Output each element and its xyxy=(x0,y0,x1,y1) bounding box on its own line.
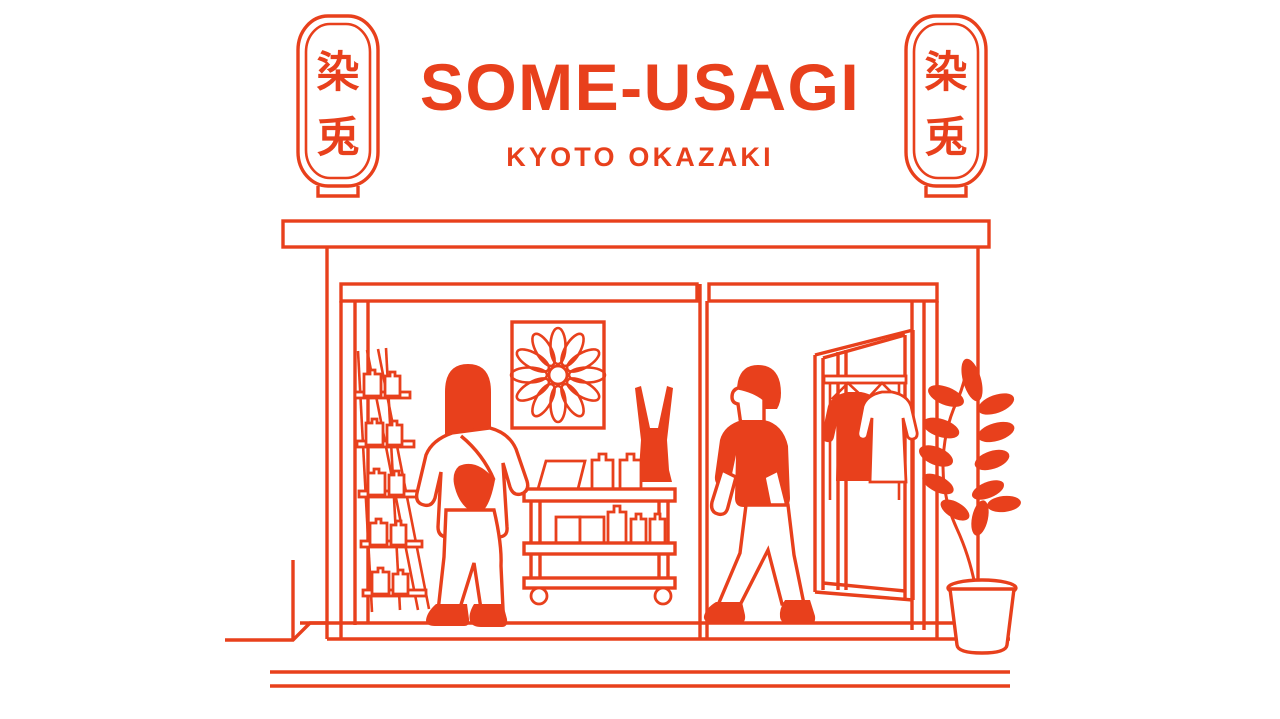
leaf xyxy=(975,418,1016,446)
door-top-rail xyxy=(815,330,913,355)
cart-top-shelf xyxy=(524,489,675,501)
shelf-bottle xyxy=(391,521,406,545)
cart-bottle-top xyxy=(592,454,613,489)
ladder-shelf xyxy=(355,348,429,612)
lantern-kanji-bottom: 兎 xyxy=(317,113,360,163)
laptop-screen xyxy=(538,461,585,489)
right-lantern: 染 兎 xyxy=(906,16,986,196)
leaf xyxy=(986,494,1021,513)
clothing-rack xyxy=(822,376,917,500)
door-bottom-rail-inner xyxy=(823,583,905,591)
right-window-header xyxy=(709,284,937,301)
man-shoe-back xyxy=(704,602,745,623)
shelf-bottle xyxy=(389,471,404,495)
cart-bottle-top xyxy=(620,454,641,489)
shelf-bottle xyxy=(385,372,400,396)
potted-plant xyxy=(916,356,1022,653)
leaf xyxy=(937,495,973,525)
door-bottom-rail xyxy=(815,592,913,600)
rack-rail xyxy=(824,376,906,383)
woman-shoe-right xyxy=(470,604,508,627)
woman-pants xyxy=(438,510,503,611)
shelf-bottle xyxy=(393,570,408,594)
cart-bottom-rail xyxy=(524,578,675,588)
left-lantern: 染 兎 xyxy=(298,16,378,196)
storefront-illustration: .s { fill:none; stroke:#E8401C; stroke-w… xyxy=(0,0,1280,719)
flower-poster xyxy=(511,322,605,428)
illustration-canvas: .s { fill:none; stroke:#E8401C; stroke-w… xyxy=(0,0,1280,719)
shelf-bottle xyxy=(387,421,402,445)
facade-left-base xyxy=(225,623,327,640)
man-pants xyxy=(718,505,804,605)
flower-center xyxy=(549,366,567,384)
cart-caster xyxy=(531,588,547,604)
cart-caster xyxy=(655,588,671,604)
woman-shoe-left xyxy=(426,604,469,626)
shelf-bottle xyxy=(364,370,381,396)
pot-body xyxy=(950,589,1014,653)
man-shoe-front xyxy=(780,600,815,624)
cart-bottle-lower xyxy=(608,506,626,543)
awning-band xyxy=(283,221,989,247)
lantern-kanji-top: 染 xyxy=(925,48,968,98)
leaf xyxy=(920,414,962,443)
cart-box xyxy=(580,517,604,543)
cart-lower-shelf xyxy=(524,543,675,554)
customer-man xyxy=(704,365,815,624)
shelf-bottle xyxy=(370,519,387,545)
plant-leaves xyxy=(916,356,1022,537)
shelf-bottle xyxy=(366,419,383,445)
shelf-bottle xyxy=(372,568,389,594)
leaf xyxy=(925,381,967,412)
lantern-kanji-top: 染 xyxy=(317,48,360,98)
cart-bottle-lower xyxy=(631,514,646,543)
shelf-bottle-group xyxy=(364,370,408,594)
door-top-rail-inner xyxy=(823,335,905,358)
cart-bottle-lower xyxy=(650,514,665,543)
shelf-bottle xyxy=(368,469,385,495)
lantern-kanji-bottom: 兎 xyxy=(925,113,968,163)
page-subtitle: KYOTO OKAZAKI xyxy=(506,142,774,172)
cart-box xyxy=(556,517,580,543)
page-title: SOME-USAGI xyxy=(420,50,860,124)
left-window-header xyxy=(341,284,697,301)
